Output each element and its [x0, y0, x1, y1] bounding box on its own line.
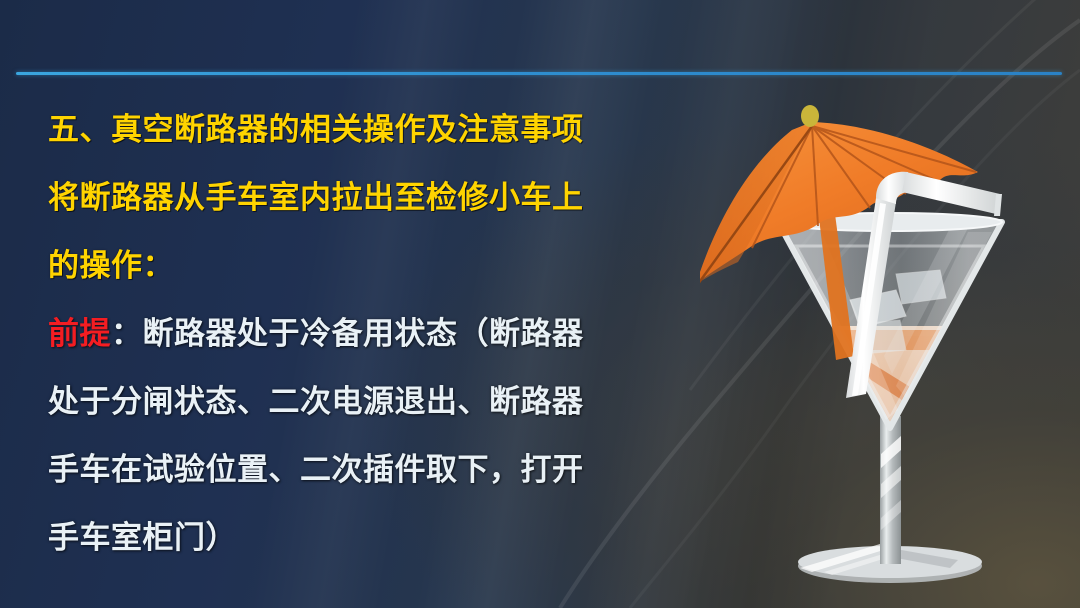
premise-keyword: 前提 [48, 316, 111, 351]
page-title: 五、真空断路器的相关操作及注意事项 [48, 96, 708, 164]
body-line-2: 的操作： [48, 232, 708, 300]
body-line-4: 处于分闸状态、二次电源退出、断路器 [48, 368, 708, 436]
umbrella-knob [801, 105, 819, 127]
glass-stem [880, 416, 901, 564]
body-line-3-text: ：断路器处于冷备用状态（断路器 [111, 316, 584, 351]
cocktail-illustration [700, 98, 1080, 598]
slide-text-block: 五、真空断路器的相关操作及注意事项 将断路器从手车室内拉出至检修小车上 的操作：… [48, 96, 708, 572]
body-line-1: 将断路器从手车室内拉出至检修小车上 [48, 164, 708, 232]
body-line-5: 手车在试验位置、二次插件取下，打开 [48, 436, 708, 504]
body-line-6: 手车室柜门） [48, 504, 708, 572]
body-line-3: 前提：断路器处于冷备用状态（断路器 [48, 300, 708, 368]
glass-bowl [778, 213, 1002, 428]
slide-canvas: 五、真空断路器的相关操作及注意事项 将断路器从手车室内拉出至检修小车上 的操作：… [0, 0, 1080, 608]
header-divider-line [16, 72, 1062, 75]
